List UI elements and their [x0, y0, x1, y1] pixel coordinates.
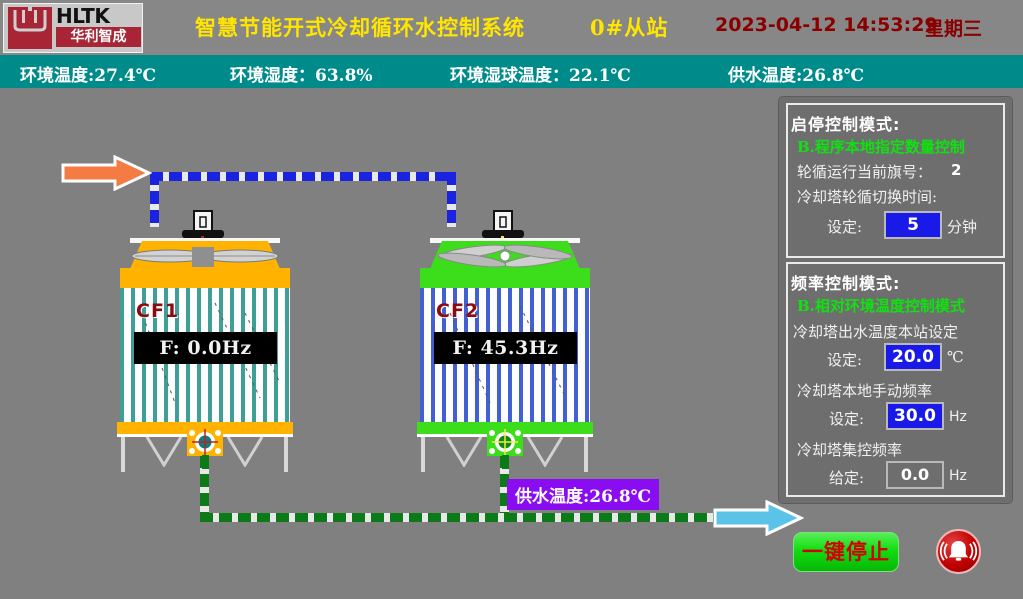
cf2-tower-label: CF2	[436, 300, 479, 322]
supply-water-temperature-readout: 供水温度:26.8℃	[728, 61, 864, 86]
substation-label: 0#从站	[590, 12, 668, 42]
outlet-temp-setpoint-input[interactable]: 20.0	[884, 343, 942, 371]
cf1-fan-hub	[192, 247, 214, 267]
weekday-display: 星期三	[925, 14, 982, 41]
rotation-switch-time-unit: 分钟	[947, 216, 977, 237]
return-water-header-pipe	[150, 172, 456, 181]
logo-chinese-text: 华利智成	[56, 27, 141, 47]
central-frequency-set-label: 给定:	[829, 467, 864, 488]
cooling-tower-cf2[interactable]: CF2 F: 45.3Hz	[412, 200, 597, 465]
cf1-leg-right	[284, 437, 288, 472]
cooling-tower-cf1[interactable]: CF1 F: 0.0Hz	[112, 200, 297, 465]
manual-frequency-label: 冷却塔本地手动频率	[797, 380, 932, 401]
outlet-temp-setpoint-label: 冷却塔出水温度本站设定	[793, 321, 958, 342]
rotation-switch-time-input[interactable]: 5	[884, 211, 942, 239]
start-stop-mode-value[interactable]: B.程序本地指定数量控制	[797, 136, 965, 157]
central-frequency-label: 冷却塔集控频率	[797, 439, 902, 460]
inlet-flow-arrow	[60, 155, 152, 191]
central-frequency-display: 0.0	[886, 461, 944, 489]
hltk-mark-glyph	[8, 7, 52, 33]
company-logo: HLTK 华利智成	[3, 3, 143, 53]
environment-status-bar: 环境温度:27.4℃ 环境湿度：63.8% 环境湿球温度：22.1℃ 供水温度:…	[0, 55, 1023, 88]
alarm-bell-icon	[938, 531, 979, 572]
manual-frequency-set-label: 设定:	[829, 408, 864, 429]
cf2-leg-right	[584, 437, 588, 472]
manual-frequency-unit: Hz	[949, 409, 967, 425]
cf1-leg-left	[121, 437, 125, 472]
outlet-temp-unit: ℃	[947, 348, 964, 366]
cf1-pump-valve[interactable]	[187, 428, 223, 456]
cf1-tower-label: CF1	[136, 300, 179, 322]
supply-water-header-pipe	[200, 513, 745, 522]
logo-latin-text: HLTK	[56, 5, 109, 27]
ambient-humidity-readout: 环境湿度：63.8%	[230, 61, 373, 86]
wet-bulb-temperature-readout: 环境湿球温度：22.1℃	[450, 61, 631, 86]
outlet-temp-set-label: 设定:	[827, 349, 862, 370]
page-title: 智慧节能开式冷却循环水控制系统	[195, 12, 525, 42]
cf2-drain-stub	[502, 455, 509, 469]
one-key-stop-button[interactable]: 一键停止	[793, 532, 899, 572]
rotation-switch-time-label: 冷却塔轮循切换时间:	[797, 186, 937, 207]
frequency-mode-value[interactable]: B.相对环境温度控制模式	[797, 295, 965, 316]
manual-frequency-input[interactable]: 30.0	[886, 402, 944, 430]
supply-temperature-tag: 供水温度:26.8℃	[507, 479, 659, 510]
frequency-mode-title: 频率控制模式:	[791, 270, 900, 294]
central-frequency-unit: Hz	[949, 468, 967, 484]
cf2-fan-hub	[492, 247, 514, 267]
logo-wordmark: HLTK 华利智成	[56, 5, 141, 49]
cf1-upper-band	[120, 268, 290, 290]
cf2-upper-band	[420, 268, 590, 290]
datetime-display: 2023-04-12 14:53:29	[715, 14, 938, 36]
start-stop-mode-title: 启停控制模式:	[791, 111, 900, 135]
cf2-leg-left	[421, 437, 425, 472]
rotation-flag-value: 2	[951, 161, 961, 179]
cf1-frequency-readout: F: 0.0Hz	[134, 332, 277, 364]
hmi-screen: HLTK 华利智成 智慧节能开式冷却循环水控制系统 0#从站 2023-04-1…	[0, 0, 1023, 599]
alarm-button[interactable]	[936, 529, 981, 574]
header-bar: HLTK 华利智成 智慧节能开式冷却循环水控制系统 0#从站 2023-04-1…	[0, 0, 1023, 55]
rotation-switch-time-set-label: 设定:	[827, 216, 862, 237]
ambient-temperature-readout: 环境温度:27.4℃	[20, 61, 156, 86]
cf2-pump-valve[interactable]	[487, 428, 523, 456]
cf1-drain-stub	[202, 455, 209, 469]
rotation-flag-label: 轮循运行当前旗号：	[797, 161, 932, 182]
control-panel: 启停控制模式: B.程序本地指定数量控制 轮循运行当前旗号： 2 冷却塔轮循切换…	[779, 97, 1012, 503]
cf2-frequency-readout: F: 45.3Hz	[434, 332, 577, 364]
outlet-flow-arrow	[712, 500, 804, 536]
